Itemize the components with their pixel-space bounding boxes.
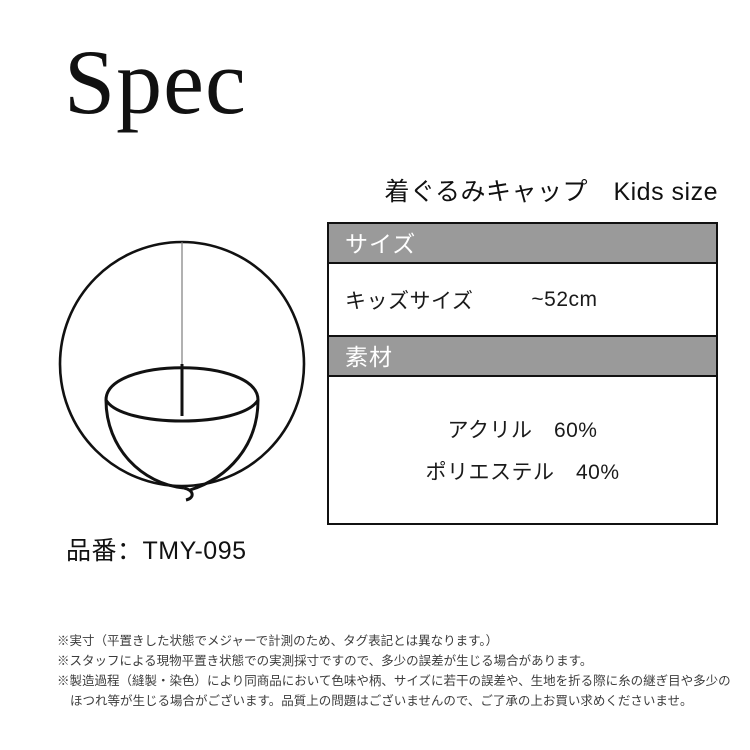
material-item: アクリル 60% xyxy=(448,414,598,444)
table-header-material: 素材 xyxy=(329,337,716,377)
page-title: Spec xyxy=(64,36,247,128)
size-label: キッズサイズ xyxy=(345,285,473,315)
disclaimer-notes: ※実寸（平置きした状態でメジャーで計測のため、タグ表記とは異なります。） ※スタ… xyxy=(57,631,727,711)
note-line: ※製造過程（縫製・染色）により同商品において色味や柄、サイズに若干の誤差や、生地… xyxy=(57,671,727,691)
table-row-size: キッズサイズ ~52cm xyxy=(329,264,716,337)
spec-sheet-page: Spec 品番：TMY-095 着ぐるみキャップ Kids size サイズ xyxy=(0,0,750,750)
product-illustration xyxy=(52,232,312,504)
product-code: 品番：TMY-095 xyxy=(66,531,247,567)
spec-heading: 着ぐるみキャップ Kids size xyxy=(327,172,718,208)
table-row-material: アクリル 60% ポリエステル 40% xyxy=(329,377,716,523)
material-item: ポリエステル 40% xyxy=(425,456,619,486)
note-line: ※スタッフによる現物平置き状態での実測採寸ですので、多少の誤差が生じる場合があり… xyxy=(57,651,727,671)
note-line: ※実寸（平置きした状態でメジャーで計測のため、タグ表記とは異なります。） xyxy=(57,631,727,651)
kigurumi-cap-icon xyxy=(52,232,312,504)
cap-brim-right-edge xyxy=(190,400,258,490)
size-value: ~52cm xyxy=(531,288,597,312)
note-line: ほつれ等が生じる場合がございます。品質上の問題はございませんので、ご了承の上お買… xyxy=(57,691,727,711)
cap-brim-left-edge xyxy=(106,400,184,488)
spec-table: サイズ キッズサイズ ~52cm 素材 アクリル 60% ポリエステル 40% xyxy=(327,222,718,525)
table-header-size: サイズ xyxy=(329,224,716,264)
cap-brim-tail xyxy=(184,488,192,500)
